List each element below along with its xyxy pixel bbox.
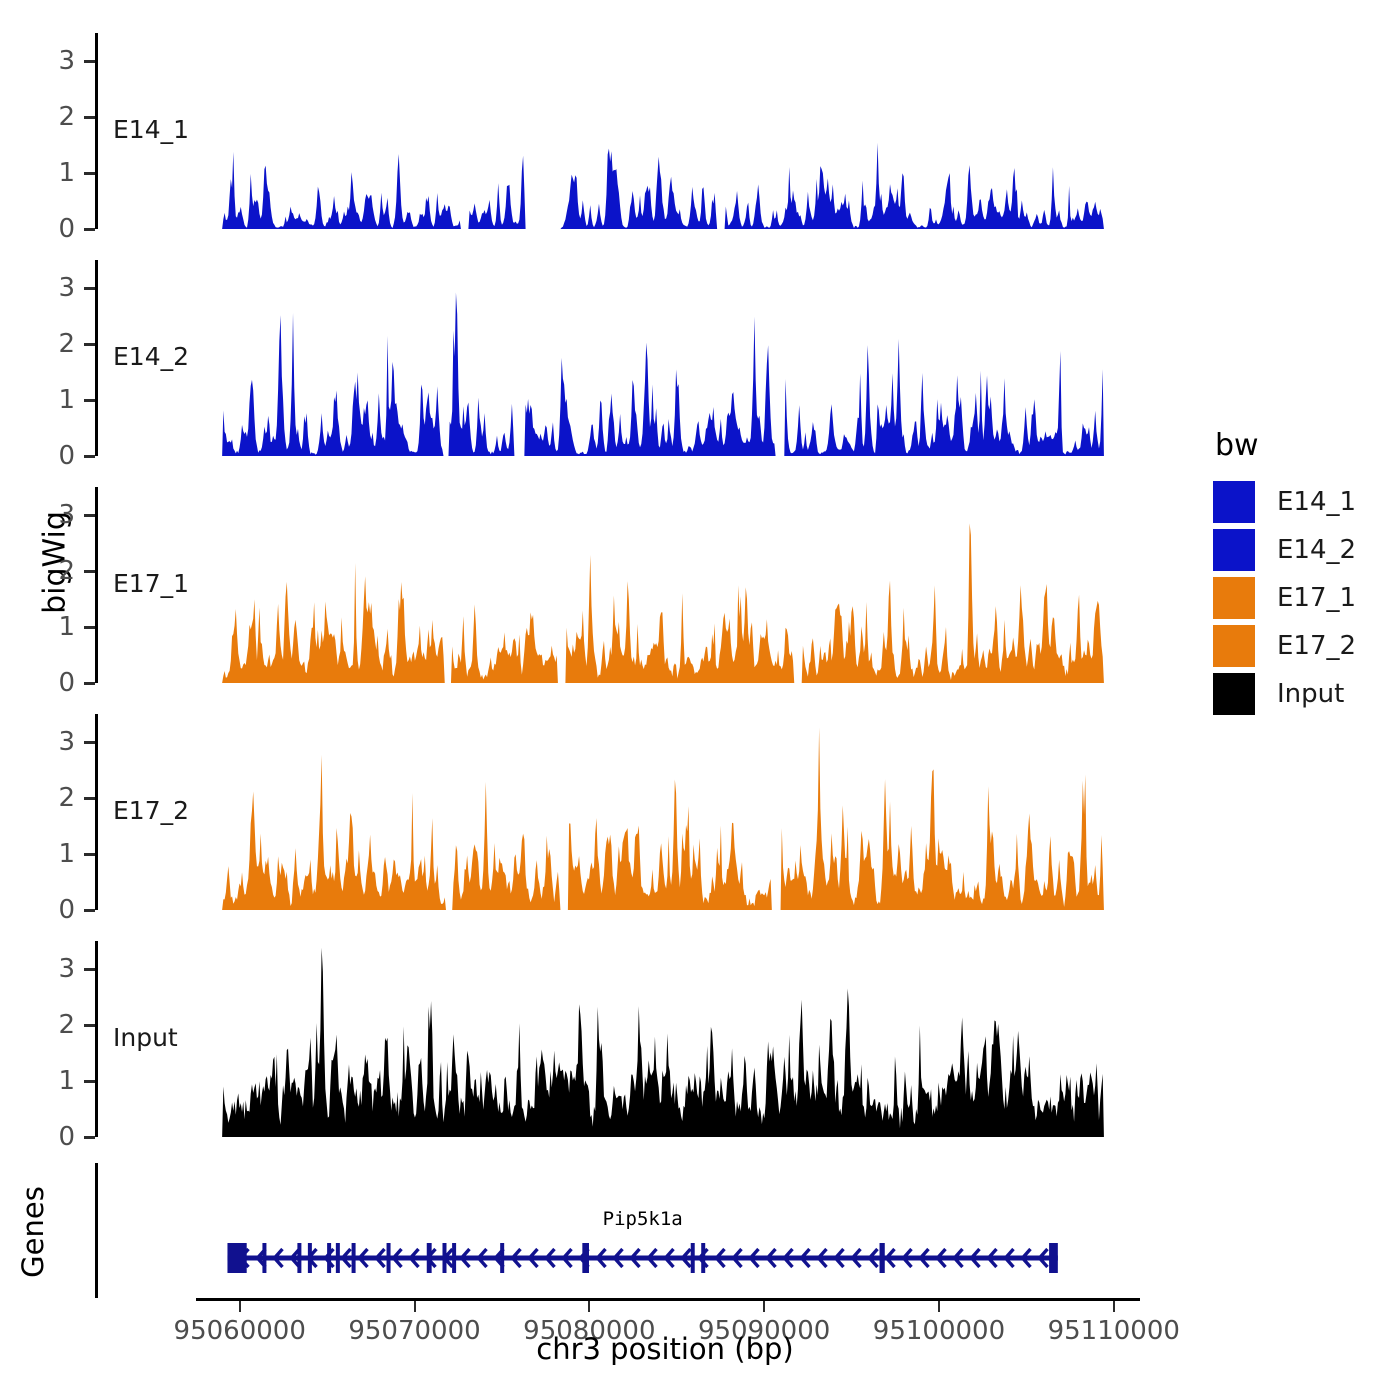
y-tick [84, 60, 95, 63]
track-panel-e14_2: 0123E14_2 [95, 260, 1140, 456]
gene-exon-block [442, 1243, 446, 1273]
signal-area-e14_1 [95, 33, 1140, 229]
gene-exon-block [582, 1243, 589, 1273]
y-tick-label: 1 [58, 385, 81, 415]
signal-area-e17_1 [95, 487, 1140, 683]
legend: bw E14_1E14_2E17_1E17_2Input [1213, 428, 1356, 719]
gene-name-label: Pip5k1a [603, 1208, 683, 1230]
gene-exon-block [387, 1243, 391, 1273]
track-panel-e17_2: 0123E17_2 [95, 714, 1140, 910]
legend-swatch-icon [1213, 481, 1255, 523]
signal-area-e17_2 [95, 714, 1140, 910]
x-tick [239, 1301, 241, 1312]
track-panel-e14_1: 0123E14_1 [95, 33, 1140, 229]
gene-exon-block [352, 1243, 356, 1273]
y-tick [84, 570, 95, 573]
y-axis-label-genes: Genes [16, 1147, 50, 1317]
y-tick [84, 172, 95, 175]
y-tick-label: 1 [58, 612, 81, 642]
y-tick-label: 1 [58, 158, 81, 188]
y-tick-label: 2 [58, 329, 81, 359]
gene-exon-block [691, 1243, 695, 1273]
legend-swatch-icon [1213, 625, 1255, 667]
legend-label: E14_1 [1277, 487, 1356, 517]
legend-item-input[interactable]: Input [1213, 671, 1356, 717]
y-tick-label: 3 [58, 727, 81, 757]
y-tick [84, 287, 95, 290]
y-tick-label: 3 [58, 500, 81, 530]
gene-exon-block [227, 1243, 246, 1273]
track-panel-e17_1: 0123E17_1 [95, 487, 1140, 683]
x-axis-label: chr3 position (bp) [200, 1332, 1130, 1366]
signal-area-e14_2 [95, 260, 1140, 456]
y-tick-label: 1 [58, 1066, 81, 1096]
x-tick [763, 1301, 765, 1312]
y-tick [84, 853, 95, 856]
x-axis-line [196, 1298, 1140, 1301]
legend-label: E14_2 [1277, 535, 1356, 565]
genes-track-panel: Pip5k1a [95, 1163, 1140, 1298]
gene-exon-block [262, 1243, 266, 1273]
y-tick [84, 455, 95, 458]
gene-exon-block [452, 1243, 456, 1273]
legend-swatch-icon [1213, 577, 1255, 619]
y-tick [84, 682, 95, 685]
legend-item-e17_1[interactable]: E17_1 [1213, 575, 1356, 621]
gene-exon-block [297, 1243, 301, 1273]
gene-exon-block [701, 1243, 705, 1273]
y-tick [84, 1024, 95, 1027]
y-tick [84, 1136, 95, 1139]
y-tick-label: 0 [58, 895, 81, 925]
gene-exon-block [327, 1243, 331, 1273]
signal-area-input [95, 941, 1140, 1137]
genome-browser-figure: bigWig Genes 0123E14_10123E14_20123E17_1… [0, 0, 1400, 1400]
y-tick [84, 968, 95, 971]
y-tick [84, 1080, 95, 1083]
gene-model-graphic [95, 1163, 1140, 1298]
gene-exon-block [427, 1243, 432, 1273]
y-tick-label: 2 [58, 783, 81, 813]
y-tick [84, 797, 95, 800]
y-tick-label: 2 [58, 1010, 81, 1040]
legend-swatch-icon [1213, 529, 1255, 571]
legend-swatch-icon [1213, 673, 1255, 715]
y-tick [84, 741, 95, 744]
y-tick [84, 343, 95, 346]
y-tick-label: 2 [58, 556, 81, 586]
gene-exon-block [336, 1243, 340, 1273]
y-tick-label: 0 [58, 668, 81, 698]
legend-item-e17_2[interactable]: E17_2 [1213, 623, 1356, 669]
y-tick [84, 626, 95, 629]
legend-label: Input [1277, 679, 1344, 709]
x-tick [414, 1301, 416, 1312]
track-panel-input: 0123Input [95, 941, 1140, 1137]
y-tick [84, 514, 95, 517]
gene-exon-block [1049, 1243, 1058, 1273]
y-tick-label: 2 [58, 102, 81, 132]
x-tick [1113, 1301, 1115, 1312]
y-tick [84, 909, 95, 912]
legend-title: bw [1215, 428, 1356, 463]
y-tick-label: 1 [58, 839, 81, 869]
legend-item-e14_1[interactable]: E14_1 [1213, 479, 1356, 525]
y-tick-label: 3 [58, 954, 81, 984]
legend-item-e14_2[interactable]: E14_2 [1213, 527, 1356, 573]
gene-exon-block [500, 1243, 504, 1273]
y-tick [84, 228, 95, 231]
gene-exon-block [308, 1243, 312, 1273]
y-tick-label: 3 [58, 273, 81, 303]
y-tick-label: 0 [58, 1122, 81, 1152]
y-tick-label: 0 [58, 441, 81, 471]
legend-label: E17_2 [1277, 631, 1356, 661]
y-tick [84, 399, 95, 402]
gene-exon-block [880, 1243, 885, 1273]
y-tick-label: 3 [58, 46, 81, 76]
y-tick [84, 116, 95, 119]
y-tick-label: 0 [58, 214, 81, 244]
legend-label: E17_1 [1277, 583, 1356, 613]
x-tick [588, 1301, 590, 1312]
x-tick [938, 1301, 940, 1312]
